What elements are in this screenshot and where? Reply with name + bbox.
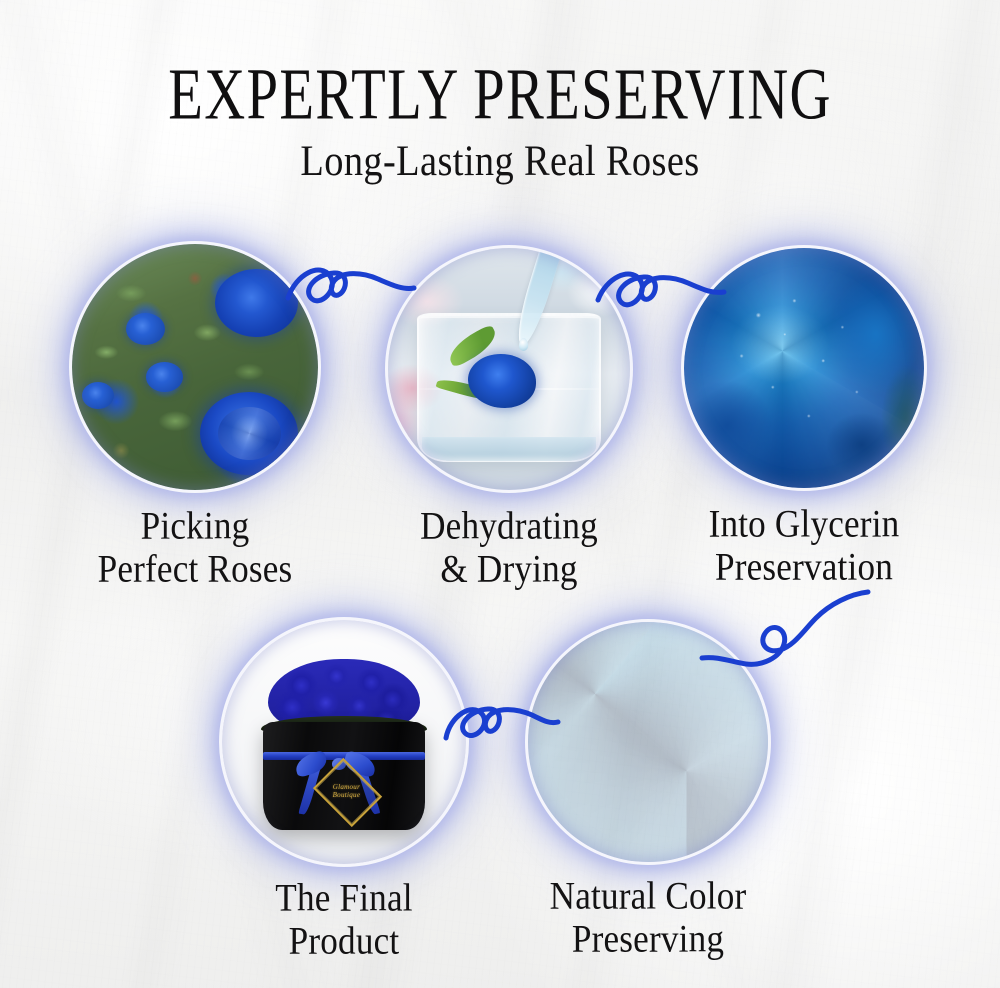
step-2-caption-line-2: & Drying	[420, 548, 598, 593]
glass-base	[422, 437, 596, 461]
water-droplet-sparkles	[684, 248, 924, 488]
infographic-poster: EXPERTLY PRESERVING Long-Lasting Real Ro…	[0, 0, 1000, 988]
dewy-rose-photo	[684, 248, 924, 488]
step-2-image-circle	[388, 248, 630, 490]
step-3-caption: Into Glycerin Preservation	[704, 504, 905, 590]
rose-in-glass-photo	[388, 248, 630, 490]
step-2-caption: Dehydrating & Drying	[415, 506, 602, 592]
step-4-the-final-product[interactable]: Glamour Boutique The Final Product	[222, 620, 466, 864]
step-4-caption: The Final Product	[272, 878, 417, 964]
step-5-caption-line-1: Natural Color	[550, 875, 747, 920]
page-subtitle: Long-Lasting Real Roses	[20, 139, 980, 182]
step-5-image-circle	[528, 622, 768, 862]
brand-name-line-1: Glamour	[333, 783, 360, 791]
blue-rose-top	[215, 269, 299, 338]
step-2-dehydrating-and-drying[interactable]: Dehydrating & Drying	[388, 248, 630, 490]
header-block: EXPERTLY PRESERVING Long-Lasting Real Ro…	[0, 58, 1000, 181]
step-3-into-glycerin-preservation[interactable]: Into Glycerin Preservation	[684, 248, 924, 488]
step-5-natural-color-preserving[interactable]: Natural Color Preserving	[528, 622, 768, 862]
step-3-caption-line-2: Preservation	[709, 546, 900, 591]
step-5-caption-line-2: Preserving	[550, 918, 747, 963]
final-product-box-photo: Glamour Boutique	[222, 620, 466, 864]
step-1-image-circle	[72, 244, 318, 490]
brand-name-line-2: Boutique	[333, 791, 361, 799]
rose-cluster-photo	[528, 622, 768, 862]
blue-rose-small-1	[126, 313, 165, 345]
step-2-caption-line-1: Dehydrating	[420, 505, 598, 550]
rose-bush-photo	[72, 244, 318, 490]
step-1-caption-line-1: Picking	[98, 505, 293, 550]
blue-rose-small-2	[146, 362, 183, 392]
blue-rose-small-3	[82, 382, 114, 409]
step-4-caption-line-1: The Final	[275, 877, 412, 922]
blue-rose-submerged	[468, 354, 536, 407]
page-title: EXPERTLY PRESERVING	[50, 58, 950, 131]
step-1-picking-perfect-roses[interactable]: Picking Perfect Roses	[72, 244, 318, 490]
step-3-image-circle	[684, 248, 924, 488]
step-4-image-circle: Glamour Boutique	[222, 620, 466, 864]
step-5-caption: Natural Color Preserving	[544, 876, 751, 962]
step-3-caption-line-1: Into Glycerin	[709, 503, 900, 548]
step-4-caption-line-2: Product	[275, 920, 412, 965]
brand-logo-text: Glamour Boutique	[317, 777, 376, 804]
blue-rose-feature	[200, 392, 298, 476]
petal-edge-highlights	[528, 622, 768, 862]
step-1-caption: Picking Perfect Roses	[92, 506, 297, 592]
step-1-caption-line-2: Perfect Roses	[98, 548, 293, 593]
